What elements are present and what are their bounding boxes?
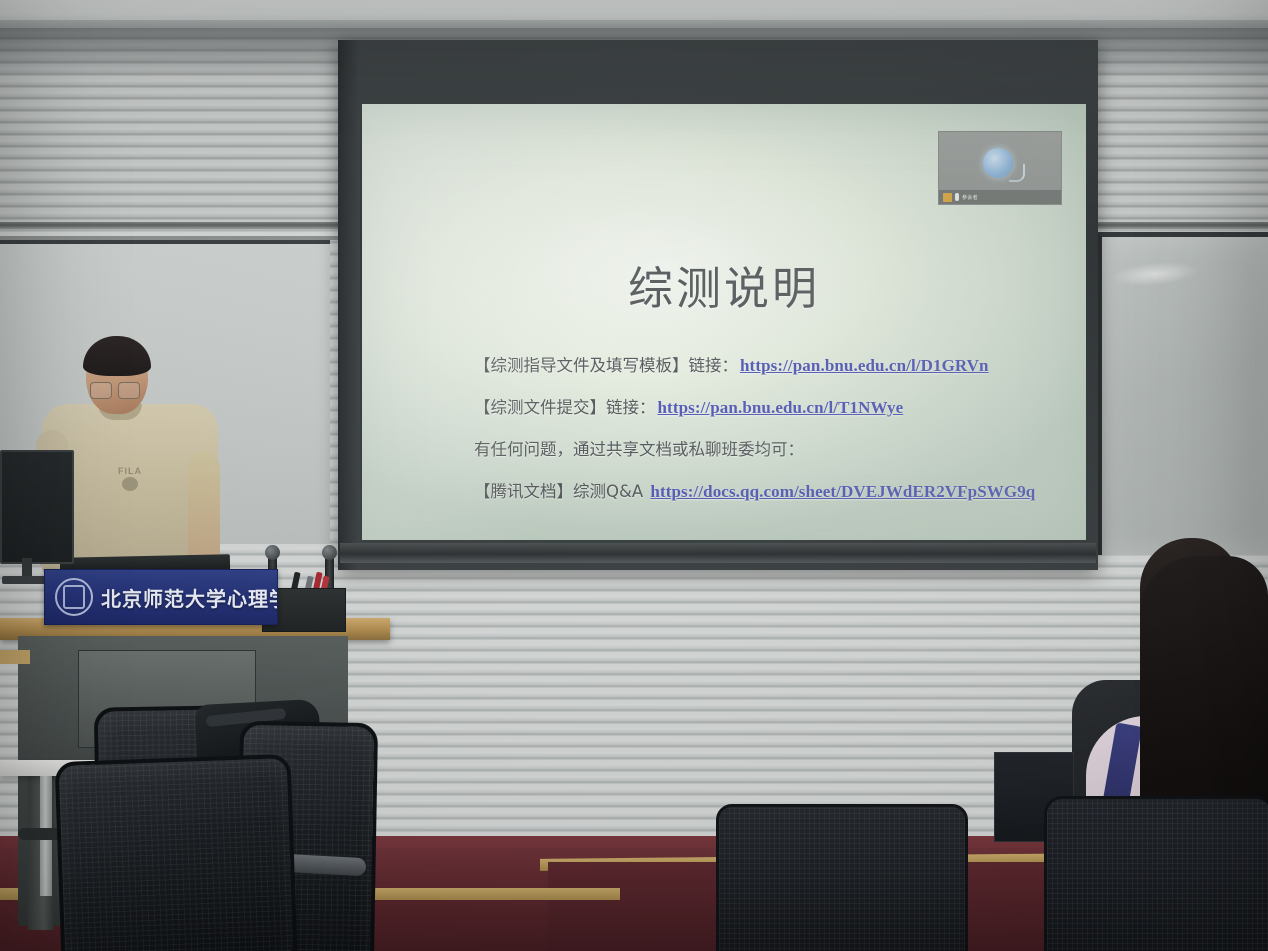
participant-label: 参会者	[962, 194, 978, 201]
glasses-lens-left	[90, 382, 112, 399]
slide-link-tencent-doc[interactable]: https://docs.qq.com/sheet/DVEJWdER2VFpSW…	[650, 482, 1035, 501]
audience-chair-right[interactable]	[1044, 796, 1268, 951]
whiteboard-glare	[1111, 259, 1199, 288]
lecture-hall-photo: 综测说明 【综测指导文件及填写模板】链接：https://pan.bnu.edu…	[0, 0, 1268, 951]
ceiling	[0, 0, 1268, 22]
foreground-chair-2[interactable]	[55, 754, 298, 951]
slide-line-questions-note-label: 有任何问题，通过共享文档或私聊班委均可：	[474, 440, 804, 459]
whiteboard	[1096, 232, 1268, 555]
audience-chair-middle[interactable]	[716, 804, 968, 951]
microphone-icon	[955, 193, 959, 201]
projection-screen-housing-left	[338, 40, 360, 570]
microphone-2-head[interactable]	[322, 545, 337, 560]
slide-line-tencent-doc-label: 【腾讯文档】综测Q&A	[474, 482, 648, 501]
video-thumbnail-statusbar: 参会者	[939, 190, 1062, 204]
video-call-thumbnail[interactable]: 参会者	[938, 131, 1062, 205]
projection-screen-bottom-bar	[340, 543, 1096, 563]
slide-link-guide-doc[interactable]: https://pan.bnu.edu.cn/l/D1GRVn	[740, 356, 989, 375]
slide-body: 【综测指导文件及填写模板】链接：https://pan.bnu.edu.cn/l…	[474, 352, 1074, 520]
presentation-slide: 综测说明 【综测指导文件及填写模板】链接：https://pan.bnu.edu…	[362, 104, 1086, 540]
projection-screen-surface: 综测说明 【综测指导文件及填写模板】链接：https://pan.bnu.edu…	[362, 104, 1086, 540]
slide-line-submit-doc: 【综测文件提交】链接：https://pan.bnu.edu.cn/l/T1NW…	[474, 394, 1074, 418]
glasses-icon	[90, 382, 138, 398]
slide-link-submit-doc[interactable]: https://pan.bnu.edu.cn/l/T1NWye	[658, 398, 904, 417]
podium-nameplate: 北京师范大学心理学部	[44, 569, 278, 625]
podium-nameplate-text: 北京师范大学心理学部	[101, 583, 278, 612]
slide-line-guide-doc: 【综测指导文件及填写模板】链接：https://pan.bnu.edu.cn/l…	[474, 352, 1074, 376]
avatar-highlight	[1009, 164, 1025, 182]
slide-line-submit-doc-label: 【综测文件提交】链接：	[474, 398, 656, 417]
shirt-brand-label: FILA	[112, 466, 148, 476]
slide-line-questions-note: 有任何问题，通过共享文档或私聊班委均可：	[474, 436, 1074, 460]
shirt-brand-mark-icon	[122, 477, 138, 491]
slide-line-tencent-doc: 【腾讯文档】综测Q&A https://docs.qq.com/sheet/DV…	[474, 478, 1074, 502]
avatar-badge-icon	[943, 193, 952, 202]
university-seal-icon	[55, 578, 93, 616]
shirt-brand-logo: FILA	[112, 466, 148, 496]
microphone-1-head[interactable]	[265, 545, 280, 560]
podium-monitor[interactable]	[0, 450, 74, 564]
glasses-lens-right	[118, 382, 140, 399]
podium-shelf	[0, 650, 30, 664]
slide-line-guide-doc-label: 【综测指导文件及填写模板】链接：	[474, 356, 738, 375]
slide-title: 综测说明	[362, 252, 1086, 317]
